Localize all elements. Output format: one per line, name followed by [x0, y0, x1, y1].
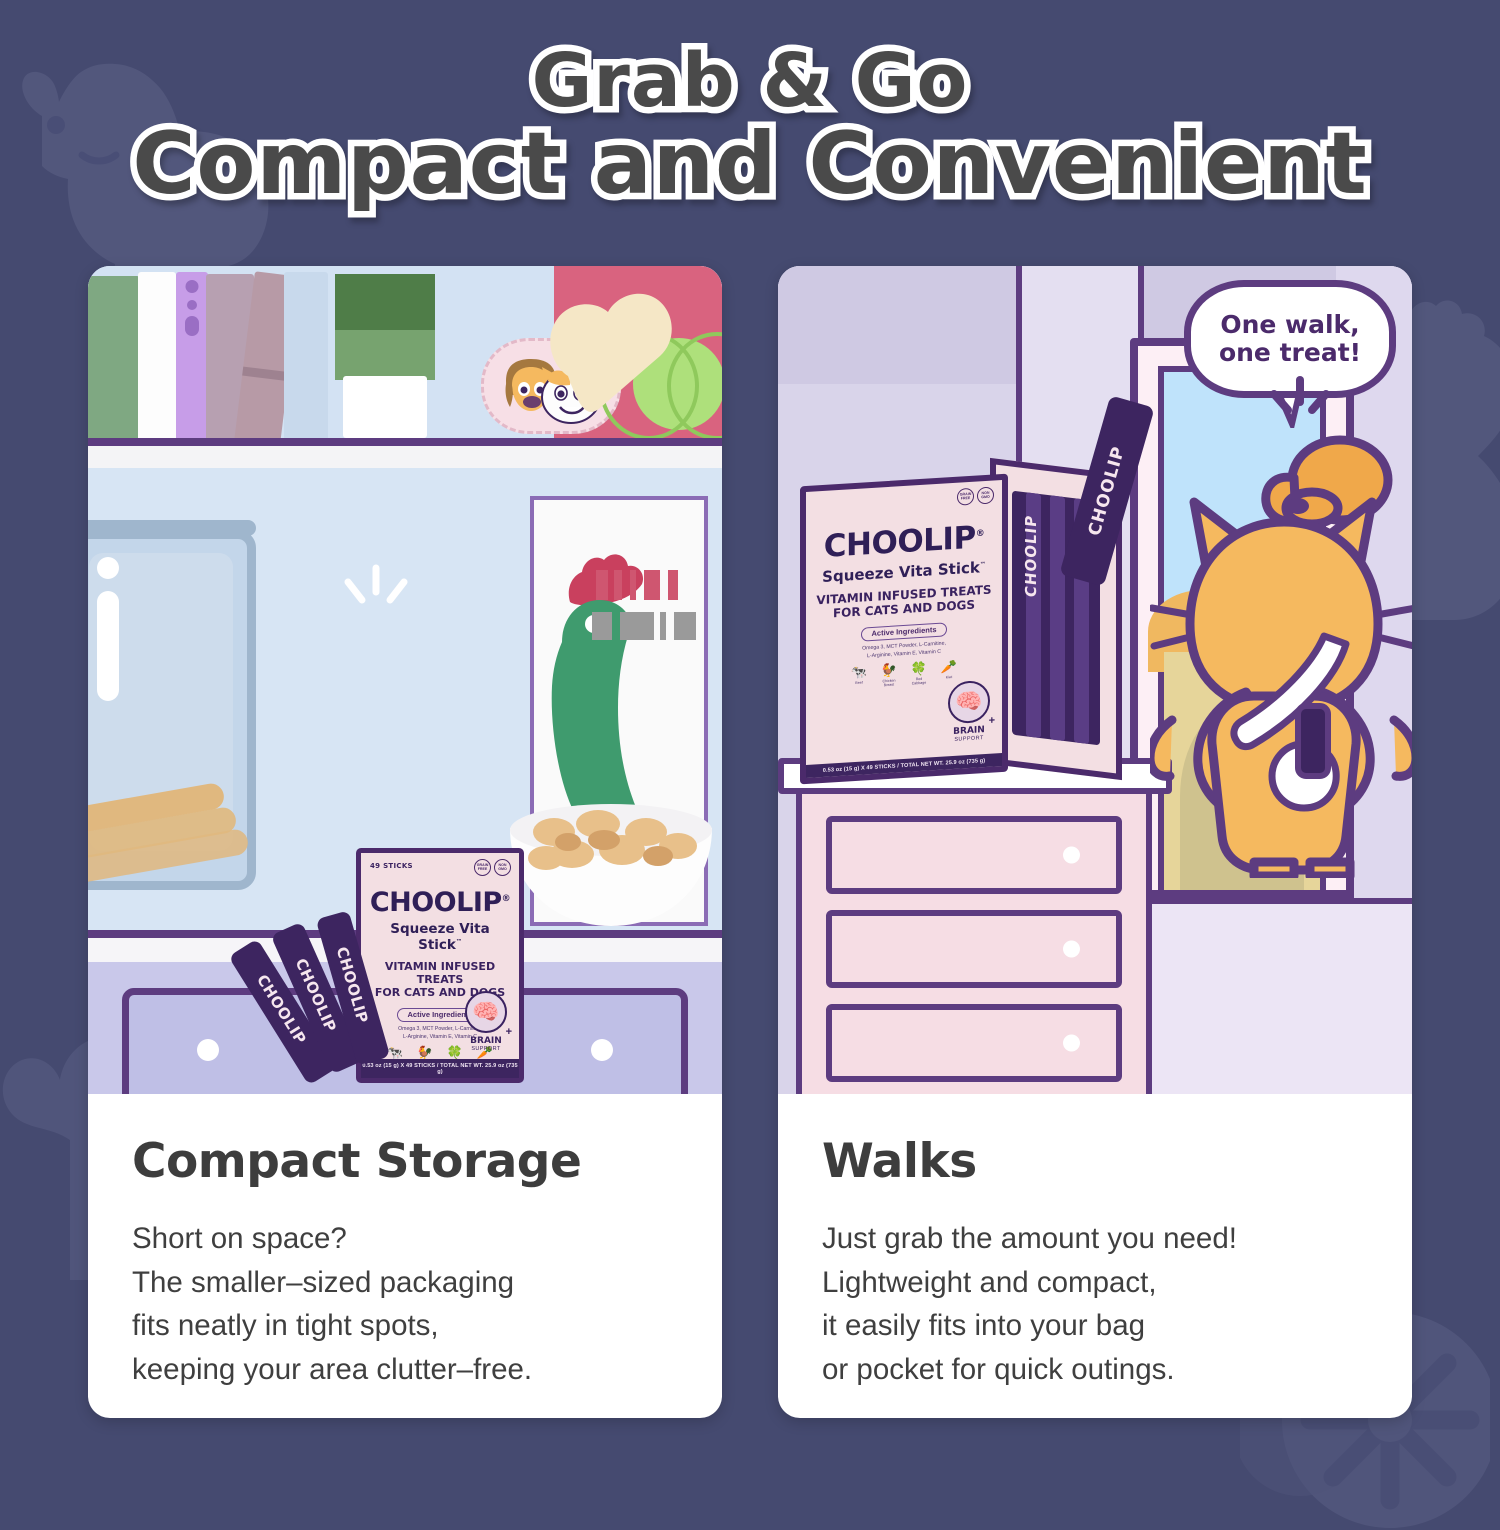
- ingredient-cabbage-icon: 🍀Red Cabbage: [910, 662, 929, 686]
- feature-card-compact-storage[interactable]: 49 STICKS GRAIN FREE NON GMO CHOOLIP® Sq…: [88, 266, 722, 1418]
- grain-free-badge-icon: GRAIN FREE: [957, 488, 974, 506]
- support-label: SUPPORT: [465, 1046, 507, 1052]
- page-title: Grab & Go Compact and Convenient: [0, 44, 1500, 209]
- loose-sticks-fan: CHOOLIP CHOOLIP CHOOLIP: [266, 908, 446, 1088]
- sparkle-icon: [1268, 374, 1332, 438]
- cabinet-drawer: [826, 816, 1122, 894]
- book-blue-icon: [284, 272, 328, 440]
- product-box-front: GRAIN FREE NON GMO CHOOLIP® Squeeze Vita…: [800, 474, 1008, 785]
- card-body-walks: Just grab the amount you need! Lightweig…: [822, 1217, 1368, 1392]
- drawer-knob-icon: [197, 1039, 219, 1061]
- brain-icon: 🧠: [465, 991, 507, 1033]
- brain-icon: 🧠: [948, 680, 990, 725]
- book-green-icon: [88, 276, 140, 438]
- plant-pot-icon: [333, 274, 437, 438]
- drawer-knob-icon: [1063, 847, 1080, 864]
- brain-support-badge: 🧠 + BRAIN SUPPORT: [465, 991, 507, 1052]
- pantry-shelf-illustration: 49 STICKS GRAIN FREE NON GMO CHOOLIP® Sq…: [88, 266, 722, 1094]
- brain-label: BRAIN: [465, 1036, 507, 1046]
- product-claim: VITAMIN INFUSED TREATS FOR CATS AND DOGS: [814, 582, 994, 622]
- cat-character-icon: [1150, 438, 1412, 878]
- book-white-icon: [138, 272, 176, 438]
- hallway-illustration: One walk, one treat!: [778, 266, 1412, 1094]
- ingredient-kiwi-icon: 🥕Kiwi: [940, 660, 959, 684]
- cabinet-drawer: [826, 910, 1122, 988]
- stick-count-label: 49 STICKS: [370, 862, 413, 870]
- cabinet-drawer: [826, 1004, 1122, 1082]
- title-line-1: Grab & Go: [0, 44, 1500, 119]
- pet-toy-icon: [538, 266, 722, 416]
- plus-sign: +: [506, 1026, 512, 1038]
- sparkle-icon: [338, 564, 414, 626]
- cereal-bowl-icon: [506, 792, 716, 928]
- stick-wordmark: CHOOLIP: [1022, 514, 1040, 598]
- book-purple-icon: [176, 272, 208, 438]
- certification-badges: GRAIN FREE NON GMO: [474, 859, 511, 876]
- non-gmo-badge-icon: NON GMO: [494, 859, 511, 876]
- feature-card-list: 49 STICKS GRAIN FREE NON GMO CHOOLIP® Sq…: [88, 266, 1412, 1418]
- drawer-knob-icon: [1063, 941, 1080, 958]
- ingredient-chicken-icon: 🐓Chicken Breast: [880, 664, 899, 688]
- card-title-compact-storage: Compact Storage: [132, 1134, 678, 1189]
- brain-support-badge: 🧠 + BRAIN SUPPORT: [948, 680, 990, 744]
- speech-bubble-text: One walk, one treat!: [1219, 311, 1361, 368]
- card-title-walks: Walks: [822, 1134, 1368, 1189]
- feature-card-walks[interactable]: One walk, one treat!: [778, 266, 1412, 1418]
- registered-mark: ®: [502, 894, 511, 904]
- cabinet: [796, 786, 1152, 1094]
- title-line-2: Compact and Convenient: [0, 121, 1500, 209]
- drawer-knob-icon: [591, 1039, 613, 1061]
- trademark-mark: ™: [456, 939, 462, 946]
- active-ingredients-label: Active Ingredients: [861, 622, 946, 641]
- non-gmo-badge-icon: NON GMO: [977, 486, 994, 504]
- ingredient-beef-icon: 🐄Beef: [850, 666, 869, 690]
- cereal-box-icon: [530, 496, 708, 926]
- certification-badges: GRAIN FREE NON GMO: [957, 486, 994, 505]
- card-body-compact-storage: Short on space? The smaller–sized packag…: [132, 1217, 678, 1392]
- grain-free-badge-icon: GRAIN FREE: [474, 859, 491, 876]
- drawer-knob-icon: [1063, 1035, 1080, 1052]
- storage-jar-icon: [88, 530, 256, 890]
